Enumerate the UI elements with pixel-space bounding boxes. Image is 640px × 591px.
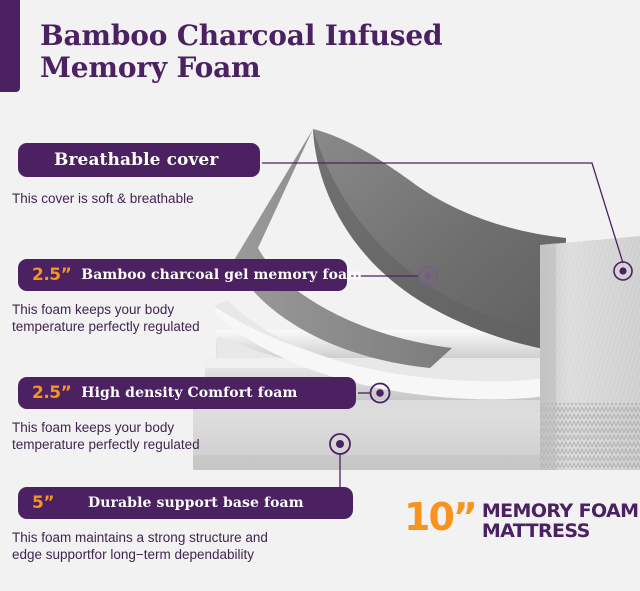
lockup-text: MEMORY FOAM MATTRESS: [482, 500, 639, 542]
lockup-size: 10”: [404, 500, 476, 535]
infographic-canvas: Bamboo Charcoal Infused Memory Foam Brea…: [0, 0, 640, 591]
lockup-text-line-1: MEMORY FOAM: [482, 500, 639, 522]
accent-bar: [0, 0, 20, 92]
layer-banner-cover[interactable]: Breathable cover: [18, 143, 260, 177]
layer-banner-gel-memory-foam-label: Bamboo charcoal gel memory foam: [81, 267, 362, 283]
page-title: Bamboo Charcoal Infused Memory Foam: [40, 20, 510, 85]
layer-banner-gel-memory-foam[interactable]: 2.5” Bamboo charcoal gel memory foam: [18, 259, 347, 291]
product-lockup: 10” MEMORY FOAM MATTRESS: [404, 500, 638, 542]
page-title-line-1: Bamboo Charcoal Infused: [40, 20, 510, 52]
layer-banner-comfort-foam[interactable]: 2.5” High density Comfort foam: [18, 377, 356, 409]
layer-description-comfort-foam: This foam keeps your body temperature pe…: [12, 419, 312, 454]
layer-banner-cover-label: Breathable cover: [32, 150, 218, 170]
layer-banner-support-base-foam[interactable]: 5” Durable support base foam: [18, 487, 353, 519]
layer-size-support-base-foam: 5”: [32, 493, 54, 513]
lockup-text-line-2: MATTRESS: [482, 520, 590, 542]
page-title-line-2: Memory Foam: [40, 52, 510, 84]
layer-size-gel-memory-foam: 2.5”: [32, 265, 71, 285]
layer-size-comfort-foam: 2.5”: [32, 383, 71, 403]
layer-description-gel-memory-foam: This foam keeps your body temperature pe…: [12, 301, 312, 336]
layer-banner-support-base-foam-label: Durable support base foam: [64, 495, 304, 511]
layer-banner-comfort-foam-label: High density Comfort foam: [81, 385, 297, 401]
layer-description-support-base-foam: This foam maintains a strong structure a…: [12, 529, 352, 564]
layer-description-cover: This cover is soft & breathable: [12, 190, 312, 207]
